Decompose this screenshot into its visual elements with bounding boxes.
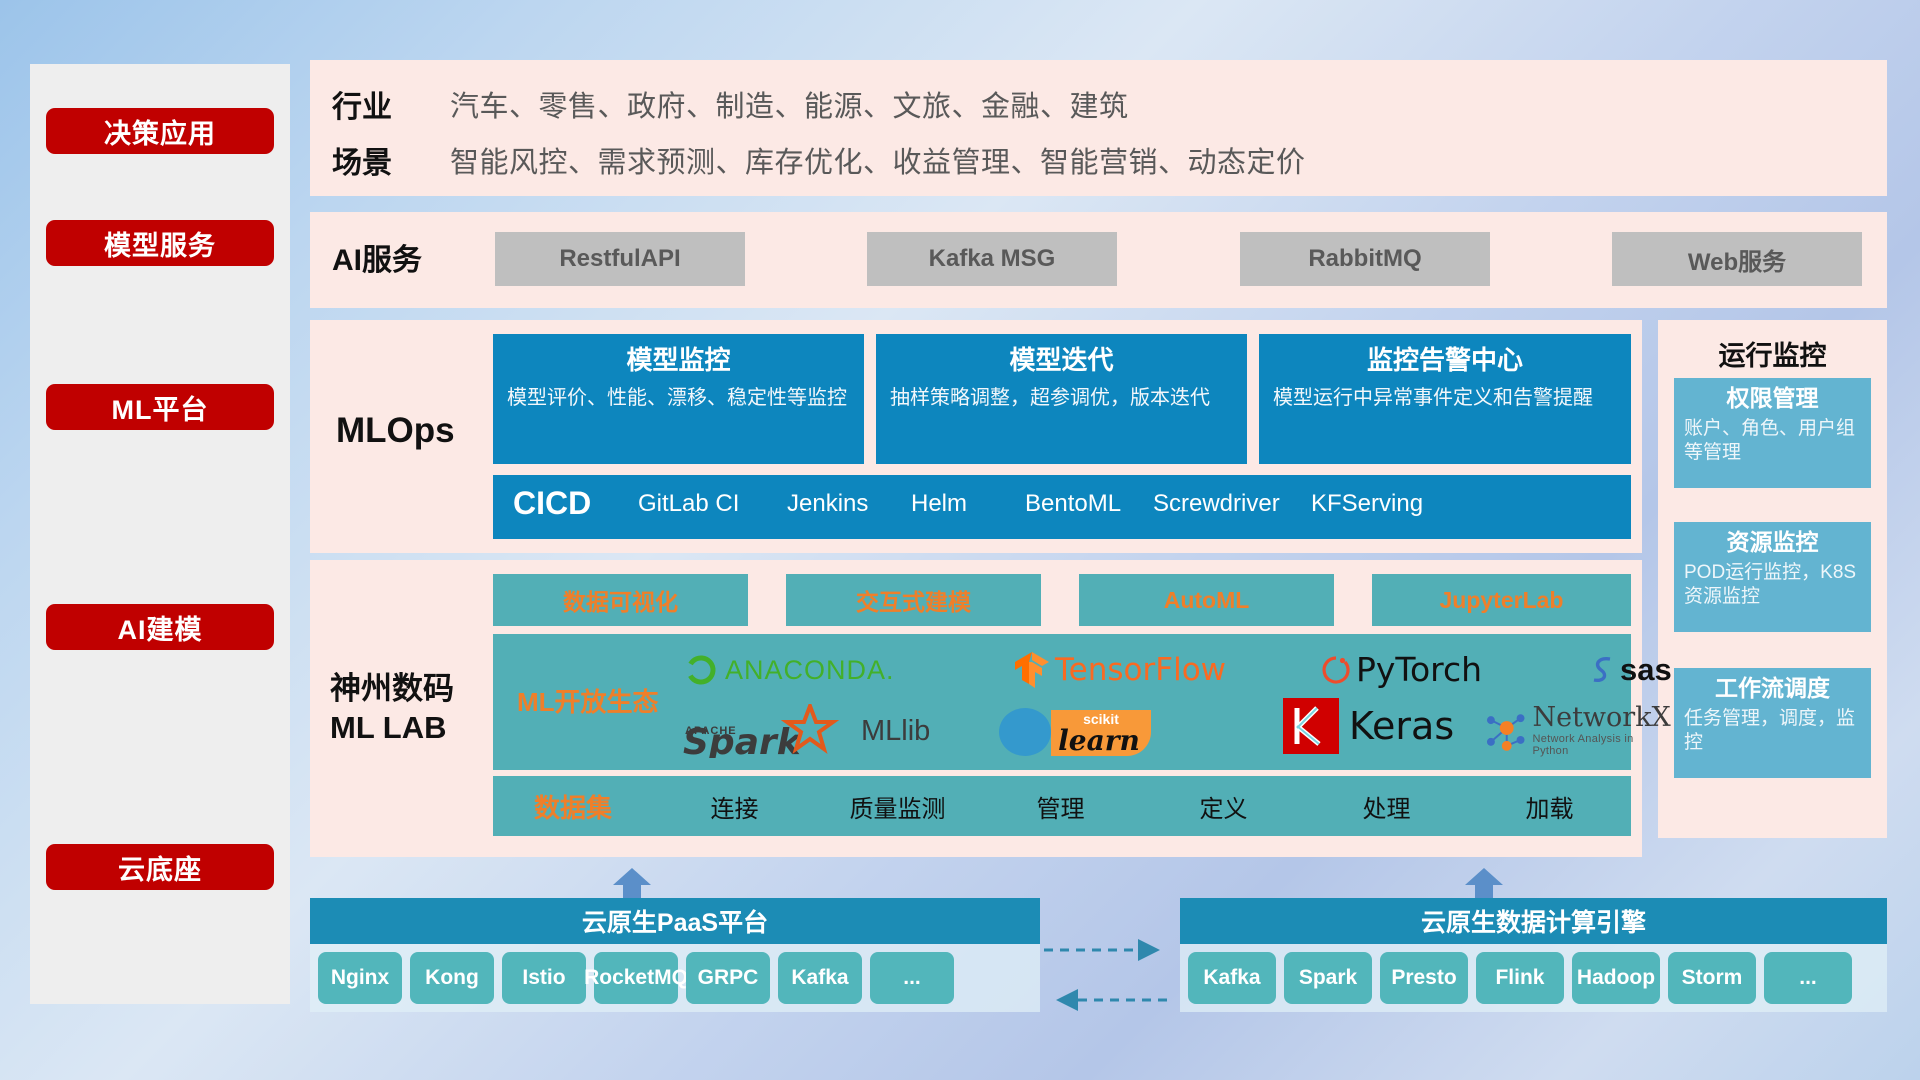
engine-chip-storm[interactable]: Storm	[1668, 952, 1756, 1004]
ml-open-ecosystem-box: ML开放生态 ANACONDA. TensorFlow	[493, 634, 1631, 770]
card-title: 监控告警中心	[1273, 344, 1617, 377]
tab-automl[interactable]: AutoML	[1079, 574, 1334, 626]
tensorflow-logo: TensorFlow	[1013, 650, 1226, 690]
paas-chip-nginx[interactable]: Nginx	[318, 952, 402, 1004]
anaconda-logo: ANACONDA.	[683, 652, 895, 688]
ai-service-panel: RestfulAPI Kafka MSG RabbitMQ Web服务	[310, 212, 1887, 308]
engine-chip-flink[interactable]: Flink	[1476, 952, 1564, 1004]
mlops-card-model-iteration[interactable]: 模型迭代 抽样策略调整，超参调优，版本迭代	[876, 334, 1247, 464]
networkx-tagline: Network Analysis in Python	[1532, 733, 1671, 757]
cicd-item-gitlab-ci[interactable]: GitLab CI	[638, 489, 758, 519]
sas-logo: sas	[1588, 652, 1672, 688]
engine-chip-hadoop[interactable]: Hadoop	[1572, 952, 1660, 1004]
card-desc: 模型运行中异常事件定义和告警提醒	[1273, 385, 1617, 411]
card-title: 模型迭代	[890, 344, 1233, 377]
cicd-item-jenkins[interactable]: Jenkins	[787, 489, 907, 519]
cicd-item-helm[interactable]: Helm	[911, 489, 1031, 519]
monitor-card-permission[interactable]: 权限管理 账户、角色、用户组等管理	[1674, 378, 1871, 488]
svg-text:Spark: Spark	[683, 722, 803, 758]
rail-item-ai-modeling[interactable]: AI建模	[46, 604, 274, 650]
tensorflow-wordmark: TensorFlow	[1055, 652, 1226, 688]
ml-lab-label-line1: 神州数码	[330, 671, 454, 706]
keras-wordmark: Keras	[1349, 704, 1454, 748]
dataset-item-process[interactable]: 处理	[1305, 789, 1468, 824]
paas-chip-grpc[interactable]: GRPC	[686, 952, 770, 1004]
sas-wordmark: sas	[1620, 652, 1672, 688]
pytorch-wordmark: PyTorch	[1356, 650, 1482, 689]
cicd-item-bentoml[interactable]: BentoML	[1025, 489, 1145, 519]
engine-chip-spark[interactable]: Spark	[1284, 952, 1372, 1004]
keras-logo: Keras	[1283, 698, 1454, 754]
dataset-item-define[interactable]: 定义	[1142, 789, 1305, 824]
tab-data-visualization[interactable]: 数据可视化	[493, 574, 748, 626]
card-title: 工作流调度	[1684, 674, 1861, 703]
cicd-item-screwdriver[interactable]: Screwdriver	[1153, 489, 1299, 519]
ecosystem-logo-grid: ANACONDA. TensorFlow PyTorch	[683, 638, 1623, 766]
dataset-bar: 数据集 连接 质量监测 管理 定义 处理 加载	[493, 776, 1631, 836]
rail-item-ml-platform[interactable]: ML平台	[46, 384, 274, 430]
card-desc: 账户、角色、用户组等管理	[1684, 417, 1861, 466]
ml-lab-label-line2: ML LAB	[330, 710, 447, 745]
ai-service-label: AI服务	[332, 243, 452, 278]
dataset-item-quality[interactable]: 质量监测	[816, 789, 979, 824]
pytorch-logo: PyTorch	[1321, 650, 1482, 689]
runtime-monitoring-panel: 运行监控 权限管理 账户、角色、用户组等管理 资源监控 POD运行监控，K8S资…	[1658, 320, 1887, 838]
rail-item-decision-app[interactable]: 决策应用	[46, 108, 274, 154]
cicd-item-kfserving[interactable]: KFServing	[1311, 489, 1447, 519]
runtime-monitoring-title: 运行监控	[1658, 334, 1887, 373]
engine-header: 云原生数据计算引擎	[1180, 898, 1887, 944]
ml-lab-panel: 数据可视化 交互式建模 AutoML JupyterLab ML开放生态 ANA…	[310, 560, 1642, 857]
networkx-logo: NetworkX Network Analysis in Python	[1483, 704, 1671, 757]
scenario-line: 场景 智能风控、需求预测、库存优化、收益管理、智能营销、动态定价	[332, 138, 1306, 182]
anaconda-wordmark: ANACONDA.	[725, 655, 895, 686]
paas-chip-rocketmq[interactable]: RocketMQ	[594, 952, 678, 1004]
industry-line: 行业 汽车、零售、政府、制造、能源、文旅、金融、建筑	[332, 82, 1129, 126]
card-desc: 抽样策略调整，超参调优，版本迭代	[890, 385, 1233, 411]
tab-jupyterlab[interactable]: JupyterLab	[1372, 574, 1631, 626]
bidirectional-connector	[1038, 928, 1180, 1032]
ml-lab-label: 神州数码 ML LAB	[330, 670, 500, 748]
dataset-item-manage[interactable]: 管理	[979, 789, 1142, 824]
paas-header: 云原生PaaS平台	[310, 898, 1040, 944]
cloud-native-data-engine-group: 云原生数据计算引擎 Kafka Spark Presto Flink Hadoo…	[1180, 868, 1887, 1018]
cicd-bar: CICD GitLab CI Jenkins Helm BentoML Scre…	[493, 475, 1631, 539]
service-chip-web-service[interactable]: Web服务	[1612, 232, 1862, 286]
paas-chip-istio[interactable]: Istio	[502, 952, 586, 1004]
card-desc: POD运行监控，K8S资源监控	[1684, 561, 1861, 610]
paas-chip-kafka[interactable]: Kafka	[778, 952, 862, 1004]
monitor-card-resource[interactable]: 资源监控 POD运行监控，K8S资源监控	[1674, 522, 1871, 632]
service-chip-restfulapi[interactable]: RestfulAPI	[495, 232, 745, 286]
scenario-values: 智能风控、需求预测、库存优化、收益管理、智能营销、动态定价	[450, 139, 1306, 181]
mlops-card-model-monitoring[interactable]: 模型监控 模型评价、性能、漂移、稳定性等监控	[493, 334, 864, 464]
industry-values: 汽车、零售、政府、制造、能源、文旅、金融、建筑	[450, 83, 1129, 125]
ml-open-ecosystem-label: ML开放生态	[517, 682, 659, 719]
mlops-panel: 模型监控 模型评价、性能、漂移、稳定性等监控 模型迭代 抽样策略调整，超参调优，…	[310, 320, 1642, 553]
engine-chip-presto[interactable]: Presto	[1380, 952, 1468, 1004]
dataset-item-load[interactable]: 加载	[1468, 789, 1631, 824]
mlops-card-alert-center[interactable]: 监控告警中心 模型运行中异常事件定义和告警提醒	[1259, 334, 1631, 464]
paas-body: Nginx Kong Istio RocketMQ GRPC Kafka ...	[310, 944, 1040, 1012]
service-chip-rabbitmq[interactable]: RabbitMQ	[1240, 232, 1490, 286]
rail-item-model-service[interactable]: 模型服务	[46, 220, 274, 266]
engine-up-arrow-icon	[1462, 868, 1506, 902]
card-title: 资源监控	[1684, 528, 1861, 557]
tab-interactive-modeling[interactable]: 交互式建模	[786, 574, 1041, 626]
networkx-wordmark: NetworkX	[1532, 704, 1671, 731]
dataset-title: 数据集	[493, 788, 653, 825]
cloud-native-paas-group: 云原生PaaS平台 Nginx Kong Istio RocketMQ GRPC…	[310, 868, 1040, 1018]
paas-chip-kong[interactable]: Kong	[410, 952, 494, 1004]
engine-chip-kafka[interactable]: Kafka	[1188, 952, 1276, 1004]
card-title: 模型监控	[507, 344, 850, 377]
left-rail: 决策应用 模型服务 ML平台 AI建模 云底座	[30, 64, 290, 1004]
scikit-learn-logo: scikit learn	[993, 700, 1178, 758]
card-desc: 模型评价、性能、漂移、稳定性等监控	[507, 385, 850, 411]
card-title: 权限管理	[1684, 384, 1861, 413]
card-desc: 任务管理，调度，监控	[1684, 707, 1861, 756]
industry-label: 行业	[332, 82, 450, 126]
scenario-label: 场景	[332, 138, 450, 182]
spark-mllib-logo: APACHE Spark MLlib	[683, 704, 930, 758]
dataset-item-connect[interactable]: 连接	[653, 789, 816, 824]
service-chip-kafka-msg[interactable]: Kafka MSG	[867, 232, 1117, 286]
paas-chip-more[interactable]: ...	[870, 952, 954, 1004]
paas-up-arrow-icon	[610, 868, 654, 902]
svg-text:learn: learn	[1058, 724, 1140, 757]
engine-body: Kafka Spark Presto Flink Hadoop Storm ..…	[1180, 944, 1887, 1012]
engine-chip-more[interactable]: ...	[1764, 952, 1852, 1004]
decision-application-panel: 行业 汽车、零售、政府、制造、能源、文旅、金融、建筑 场景 智能风控、需求预测、…	[310, 60, 1887, 196]
monitor-card-workflow[interactable]: 工作流调度 任务管理，调度，监控	[1674, 668, 1871, 778]
cicd-title: CICD	[513, 485, 591, 522]
mllib-wordmark: MLlib	[861, 715, 930, 748]
rail-item-cloud-base[interactable]: 云底座	[46, 844, 274, 890]
mlops-label: MLOps	[336, 410, 486, 451]
